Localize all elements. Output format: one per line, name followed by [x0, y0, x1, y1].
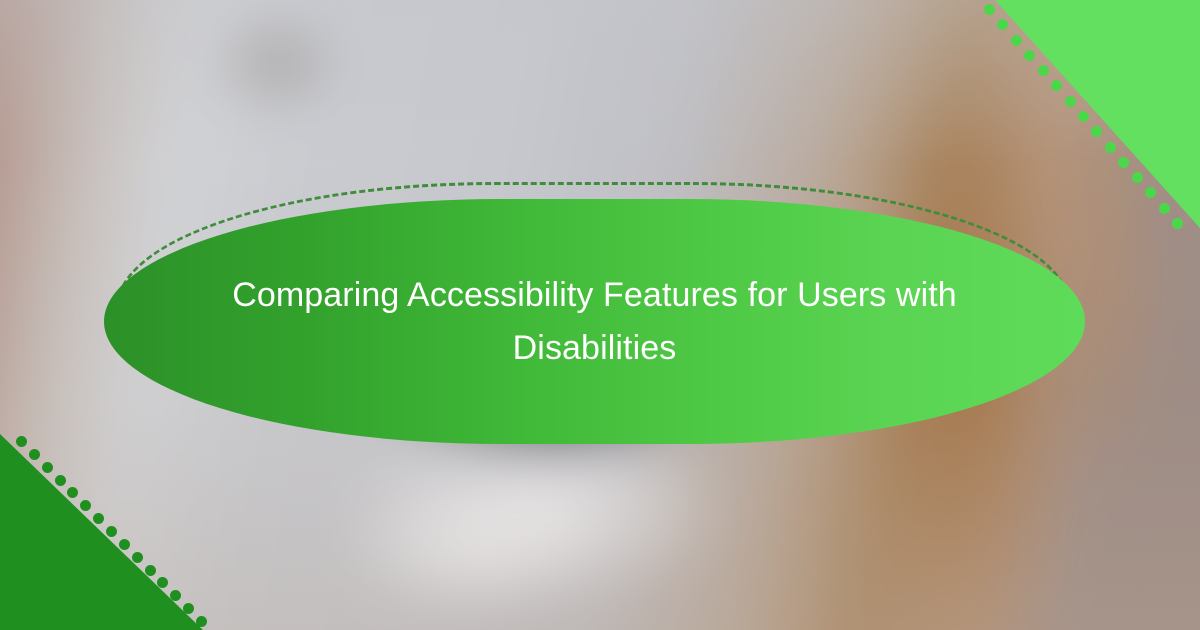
- decorative-dot: [1078, 111, 1089, 122]
- decorative-dot: [984, 4, 995, 15]
- page-title: Comparing Accessibility Features for Use…: [230, 269, 960, 374]
- decorative-dot: [196, 616, 207, 627]
- social-card-canvas: Comparing Accessibility Features for Use…: [0, 0, 1200, 630]
- decorative-dot: [1172, 218, 1183, 229]
- decorative-dot: [1065, 96, 1076, 107]
- decorative-dot: [16, 436, 27, 447]
- decorative-dot: [1159, 203, 1170, 214]
- title-banner: Comparing Accessibility Features for Use…: [104, 199, 1085, 444]
- decorative-dot: [1105, 142, 1116, 153]
- decorative-dot: [132, 552, 143, 563]
- decorative-dot: [29, 449, 40, 460]
- decorative-dot: [1011, 35, 1022, 46]
- decorative-dot: [1038, 65, 1049, 76]
- decorative-dot: [1132, 172, 1143, 183]
- decorative-dot: [55, 475, 66, 486]
- decorative-dot: [119, 539, 130, 550]
- decorative-dot: [145, 565, 156, 576]
- decorative-dot: [106, 526, 117, 537]
- bottom-left-dot-trim: [0, 0, 12, 12]
- decorative-dot: [42, 462, 53, 473]
